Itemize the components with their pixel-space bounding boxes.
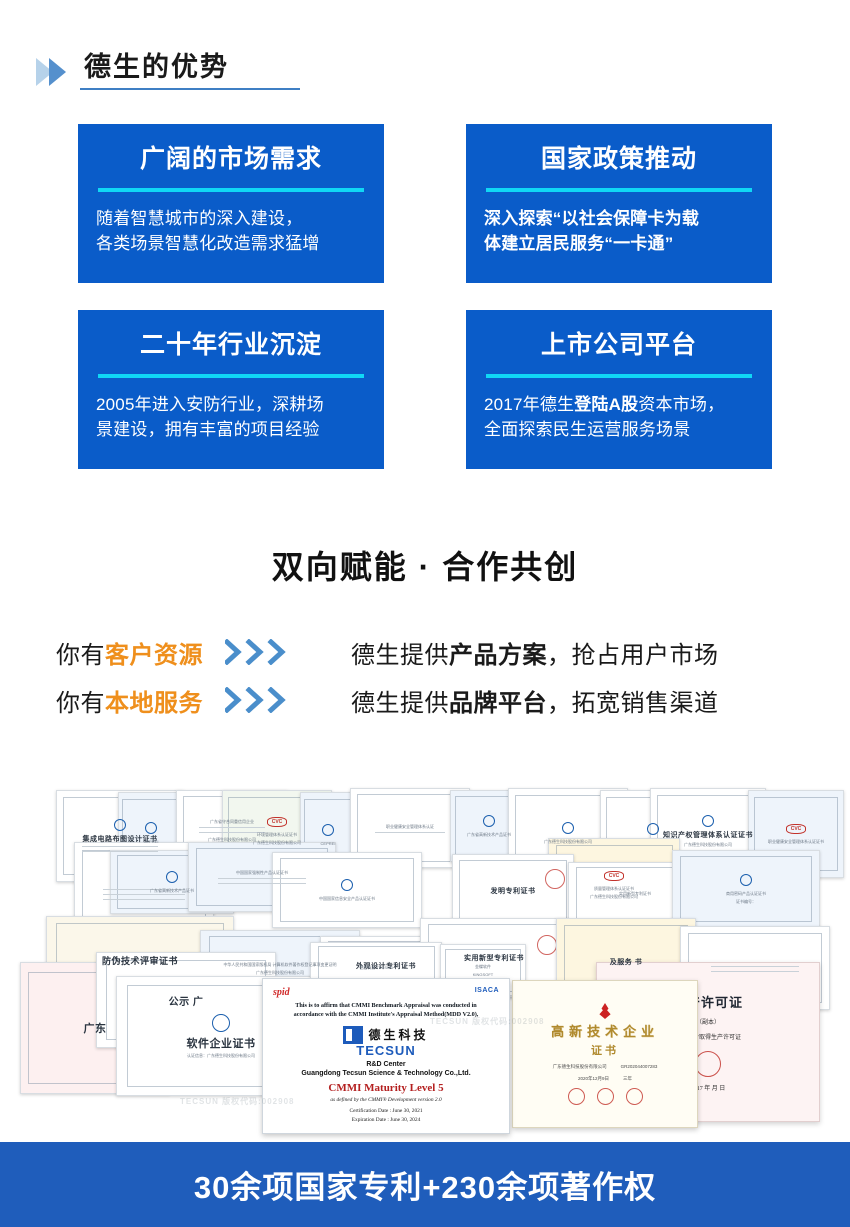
advantage-card-body-line: 深入探索“以社会保障卡为载 <box>484 206 754 231</box>
advantage-card-body-line: 随着智慧城市的深入建设， <box>96 206 366 231</box>
iccb-logo-icon <box>114 819 126 831</box>
advantage-card-body-line: 全面探索民生运营服务场景 <box>484 417 754 442</box>
certificate-subtitle: 广东德生科技股份有限公司 <box>253 840 301 846</box>
certificate-title: 中国国家强制性产品认证证书 <box>236 870 288 876</box>
section-header: 德生的优势 <box>36 38 300 90</box>
certificate-title: 中国国家信息安全产品认证证书 <box>319 896 375 902</box>
advantage-card: 二十年行业沉淀 2005年进入安防行业，深耕场 景建设，拥有丰富的项目经验 <box>78 310 384 469</box>
synergy-left-text: 你有客户资源 <box>56 635 203 670</box>
red-seal-icon <box>568 1088 585 1105</box>
ipms-logo-icon <box>702 815 714 827</box>
hitech-title: 高新技术企业 <box>551 1021 659 1040</box>
certificate-title: 公示 广 <box>169 993 204 1008</box>
cmmi-rd-center: R&D Center <box>366 1061 405 1068</box>
certificate-title: 德生科技 TECSUN <box>359 965 393 971</box>
advantage-card-body: 2017年德生登陆A股资本市场， 全面探索民生运营服务场景 <box>484 392 754 442</box>
text-run: 2017年德生 <box>484 395 574 414</box>
certificate-thumb: 商用密码产品认证证书 证书编号： <box>672 850 820 928</box>
license-copy-label: （副本） <box>696 1017 720 1026</box>
advantage-card: 国家政策推动 深入探索“以社会保障卡为载 体建立居民服务“一卡通” <box>466 124 772 283</box>
double-chevron-right-icon <box>36 58 66 86</box>
synergy-left-text: 你有本地服务 <box>56 683 203 718</box>
advantage-card-divider <box>98 374 364 378</box>
red-seal-icon <box>626 1088 643 1105</box>
certificate-subtitle: 广东德生科技股份有限公司 <box>684 842 732 848</box>
certificate-title: 实用新型专利证书 <box>464 953 524 963</box>
advantage-card-body: 2005年进入安防行业，深耕场 景建设，拥有丰富的项目经验 <box>96 392 366 442</box>
certificate-title: 广东省高新技术产品证书 <box>467 832 511 838</box>
triple-chevron-right-icon <box>225 687 301 713</box>
certificate-title: 防伪技术评审证书 <box>102 954 178 967</box>
certificate-subtitle: 证书编号： <box>736 899 756 905</box>
hitech-company: 广东德生科技股份有限公司 <box>553 1064 607 1070</box>
text-run: 你有 <box>56 642 105 669</box>
certificate-title: 软件企业证书 <box>187 1035 256 1051</box>
certificate-thumb: 中国国家信息安全产品认证证书 <box>272 852 422 928</box>
hitech-valid: 三年 <box>623 1076 632 1082</box>
synergy-highlight: 本地服务 <box>105 690 203 717</box>
synergy-heading: 双向赋能 · 合作共创 <box>0 542 850 588</box>
certificate-title: 广东省高新技术产品证书 <box>150 888 194 894</box>
cmmi-brand-cn: 德生科技 <box>368 1028 428 1042</box>
synergy-row: 你有本地服务 德生提供品牌平台，拓宽销售渠道 <box>0 676 850 724</box>
certificate-subtitle: KINGSOFT <box>473 972 493 978</box>
certificate-title: 金蝶软件 <box>475 964 491 970</box>
certificate-title: 实用新型专利证书 <box>619 891 651 897</box>
advantage-card-body-line: 各类场景智慧化改造需求猛增 <box>96 231 366 256</box>
cmmi-brand-en: TECSUN <box>356 1043 415 1058</box>
text-run-bold: 品牌平台 <box>449 690 547 717</box>
advantage-page: 德生的优势 广阔的市场需求 随着智慧城市的深入建设， 各类场景智慧化改造需求猛增… <box>0 0 850 1227</box>
advantage-card-divider <box>486 374 752 378</box>
synergy-row-list: 你有客户资源 德生提供产品方案，抢占用户市场 你有本地服务 <box>0 628 850 724</box>
title-underline <box>80 88 300 90</box>
isccc-logo-icon <box>341 879 353 891</box>
advantage-card-title: 国家政策推动 <box>541 146 697 174</box>
gd-logo-icon <box>166 871 178 883</box>
text-run-bold: 产品方案 <box>449 642 547 669</box>
cvc-logo-icon: CVC <box>786 824 807 834</box>
cmmi-certificate: spid ISACA This is to affirm that CMMI B… <box>262 978 510 1134</box>
certificate-thumb: 发明专利证书 <box>452 854 574 928</box>
csel-csia-logo-icon <box>212 1014 230 1032</box>
cmmi-affirm-line-2: accordance with the CMMI Institute's App… <box>294 1011 479 1020</box>
advantage-card-body-line: 体建立居民服务“一卡通” <box>484 231 754 256</box>
tecsun-logo-icon <box>343 1026 363 1044</box>
certificate-title: 知识产权管理体系认证证书 <box>663 830 753 840</box>
advantage-card-title: 广阔的市场需求 <box>140 146 322 174</box>
flame-logo-icon <box>598 1003 612 1019</box>
advantage-card-divider <box>486 188 752 192</box>
cmmi-defined-by: as defined by the CMMI® Development vers… <box>330 1097 441 1103</box>
advantage-card-body: 深入探索“以社会保障卡为载 体建立居民服务“一卡通” <box>484 206 754 256</box>
advantage-card: 上市公司平台 2017年德生登陆A股资本市场， 全面探索民生运营服务场景 <box>466 310 772 469</box>
certificate-title: 发明专利证书 <box>491 886 536 896</box>
text-run: 你有 <box>56 690 105 717</box>
certificate-title: 职业健康安全管理体系认证 <box>386 824 434 830</box>
ceprei-logo-icon <box>145 822 157 834</box>
text-run: ，拓宽销售渠道 <box>547 690 719 717</box>
advantage-card-body: 随着智慧城市的深入建设， 各类场景智慧化改造需求猛增 <box>96 206 366 256</box>
triple-chevron-right-icon <box>225 639 301 665</box>
hitech-cert-no: GR202044007283 <box>621 1064 658 1070</box>
cmmi-maturity-level: CMMI Maturity Level 5 <box>328 1082 443 1094</box>
ceprei-logo-icon <box>322 824 334 836</box>
certificate-title: 广东 <box>84 1020 107 1036</box>
hitech-issue-date: 2020年12月9日 <box>578 1076 609 1082</box>
certificate-title: 及服务 书 <box>610 957 642 967</box>
text-run-bold: 登陆A股 <box>574 395 638 414</box>
footer-banner: 30余项国家专利+230余项著作权 <box>0 1142 850 1227</box>
certificate-subtitle: 广东德生科技股份有限公司 <box>256 970 304 976</box>
synergy-right-text: 德生提供产品方案，抢占用户市场 <box>351 635 719 670</box>
spid-logo: spid <box>273 987 290 998</box>
red-seal-icon <box>545 869 565 889</box>
text-run: 资本市场， <box>638 395 724 414</box>
certificate-title: 职业健康安全管理体系认证证书 <box>768 839 824 845</box>
synergy-highlight: 客户资源 <box>105 642 203 669</box>
gd-logo-icon <box>483 815 495 827</box>
red-seal-icon <box>695 1051 721 1077</box>
ccsa-logo-icon <box>740 874 752 886</box>
text-run: ，抢占用户市场 <box>547 642 719 669</box>
cvc-logo-icon: CVC <box>267 817 288 827</box>
advantage-card-body-line: 2017年德生登陆A股资本市场， <box>484 392 754 417</box>
certificate-subtitle: CEPREI <box>144 839 159 845</box>
red-seal-icon <box>597 1088 614 1105</box>
page-title: 德生的优势 <box>80 53 300 88</box>
advantage-card-title: 上市公司平台 <box>541 332 697 360</box>
cmmi-cert-date: Certification Date : June 30, 2021 <box>349 1107 422 1116</box>
isaca-logo: ISACA <box>475 987 499 994</box>
ipms-logo-icon <box>562 822 574 834</box>
gov-logo-icon <box>647 823 659 835</box>
certificate-title: 商用密码产品认证证书 <box>726 891 766 897</box>
advantage-card-body-line: 景建设，拥有丰富的项目经验 <box>96 417 366 442</box>
certificate-collage: 集成电路布图设计证书 CEPREI 广东省守合同重信用企业 广东德生科技股份有限… <box>0 766 850 1142</box>
advantage-card: 广阔的市场需求 随着智慧城市的深入建设， 各类场景智慧化改造需求猛增 <box>78 124 384 283</box>
hitech-subtitle: 证书 <box>591 1042 619 1058</box>
certificate-subtitle: 广东德生科技股份有限公司 <box>544 839 592 845</box>
cmmi-affirm-line-1: This is to affirm that CMMI Benchmark Ap… <box>295 1002 477 1011</box>
certificate-subtitle: 广东德生科技股份有限公司 <box>208 837 256 843</box>
cvc-logo-icon: CVC <box>604 871 625 881</box>
footer-text: 30余项国家专利+230余项著作权 <box>194 1162 656 1207</box>
advantage-card-title: 二十年行业沉淀 <box>140 332 322 360</box>
certificate-subtitle: CEPREI <box>321 841 336 847</box>
cmmi-company: Guangdong Tecsun Science & Technology Co… <box>301 1070 470 1077</box>
advantage-card-body-line: 2005年进入安防行业，深耕场 <box>96 392 366 417</box>
certificate-title: 环境管理体系认证证书 <box>257 832 297 838</box>
certificate-subtitle: 认证信息：广东德生科技股份有限公司 <box>187 1053 255 1059</box>
text-run: 德生提供 <box>351 642 449 669</box>
synergy-row: 你有客户资源 德生提供产品方案，抢占用户市场 <box>0 628 850 676</box>
red-seal-icon <box>537 935 557 955</box>
advantage-card-divider <box>98 188 364 192</box>
certificate-title: 广东省守合同重信用企业 <box>210 819 254 825</box>
certificate-title: 中华人民共和国国家版权局 计算机软件著作权登记事项变更证明 <box>223 962 336 968</box>
advantage-card-grid: 广阔的市场需求 随着智慧城市的深入建设， 各类场景智慧化改造需求猛增 国家政策推… <box>78 124 772 469</box>
text-run: 德生提供 <box>351 690 449 717</box>
synergy-right-text: 德生提供品牌平台，拓宽销售渠道 <box>351 683 719 718</box>
hitech-enterprise-certificate: 高新技术企业 证书 广东德生科技股份有限公司 GR202044007283 20… <box>512 980 698 1128</box>
cmmi-exp-date: Expiration Date : June 30, 2024 <box>349 1116 422 1125</box>
